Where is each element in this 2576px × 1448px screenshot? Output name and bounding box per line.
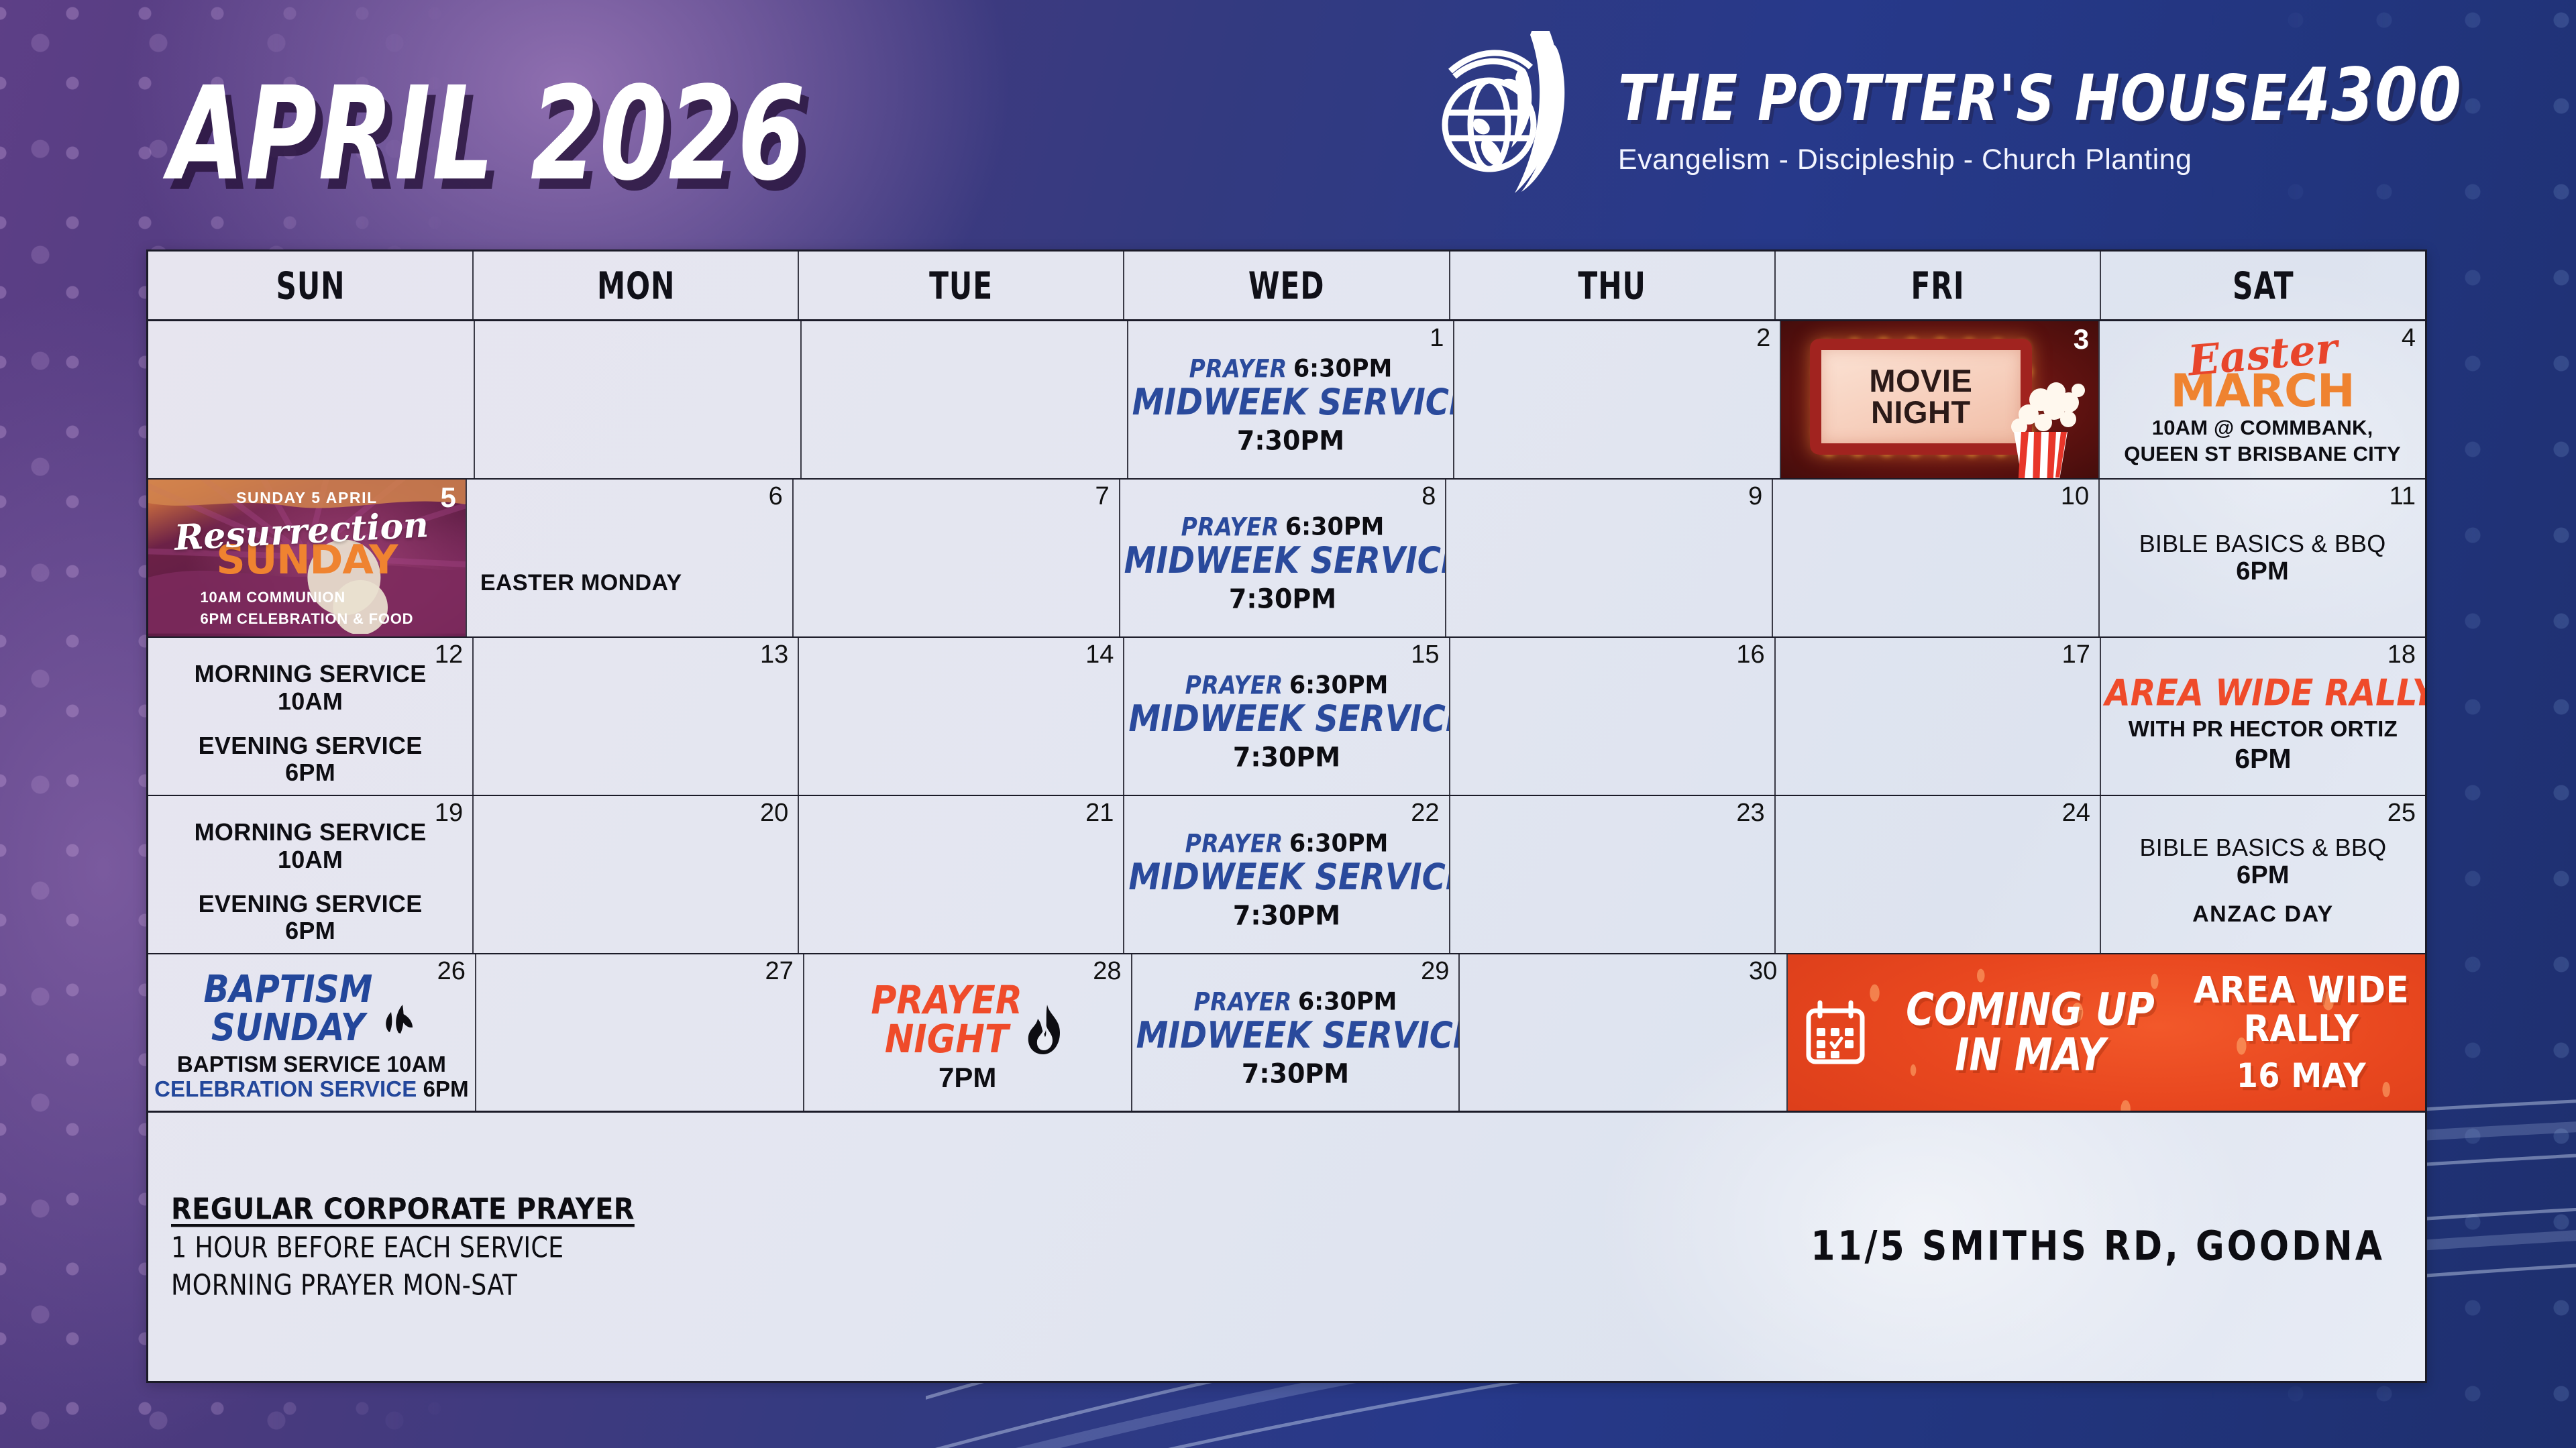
- resurrection-detail-2: 6PM CELEBRATION & FOOD: [200, 608, 413, 630]
- corporate-prayer-heading: REGULAR CORPORATE PRAYER: [171, 1192, 635, 1227]
- movie-night-card: MOVIE NIGHT: [1781, 321, 2098, 478]
- day-cell-25[interactable]: 25 BIBLE BASICS & BBQ 6PM ANZAC DAY: [2101, 796, 2425, 953]
- day-cell-18[interactable]: 18 AREA WIDE RALLY WITH PR HECTOR ORTIZ …: [2101, 638, 2425, 795]
- day-number: 20: [760, 800, 788, 826]
- coming-up-in-may-banner[interactable]: COMING UP IN MAY AREA WIDE RALLY 16 MAY: [1788, 954, 2425, 1111]
- day-number: 29: [1421, 958, 1449, 984]
- day-cell-2[interactable]: 2: [1454, 321, 1781, 478]
- easter-detail-2: QUEEN ST BRISBANE CITY: [2104, 441, 2421, 467]
- calendar-check-icon: [1804, 1000, 1867, 1066]
- brand-name-text: THE POTTER'S HOUSE: [1618, 62, 2288, 135]
- day-cell-27[interactable]: 27: [476, 954, 804, 1111]
- day-number: 22: [1411, 800, 1439, 826]
- day-number: 15: [1411, 642, 1439, 667]
- baptism-title-line-1: BAPTISM: [203, 970, 372, 1008]
- resurrection-details: 10AM COMMUNION 6PM CELEBRATION & FOOD: [200, 587, 413, 630]
- dow-label: MON: [597, 264, 675, 308]
- dow-mon: MON: [474, 252, 799, 319]
- bible-basics-time: 6PM: [2105, 861, 2421, 890]
- day-number: 21: [1085, 800, 1114, 826]
- week-row: SUNDAY 5 APRIL Resurrection SUNDAY 10AM …: [148, 480, 2425, 638]
- water-splash-icon: [378, 995, 419, 1037]
- evening-service-label: EVENING SERVICE: [152, 891, 468, 917]
- day-cell-empty[interactable]: [475, 321, 802, 478]
- coming-up-heading: COMING UP IN MAY: [1906, 987, 2155, 1078]
- prayer-line: PRAYER6:30PM: [1132, 356, 1450, 382]
- page-header: APRIL 2026: [0, 0, 2576, 248]
- easter-march-title: Easter MARCH: [2104, 333, 2421, 412]
- day-number: 6: [769, 484, 783, 509]
- prayer-night-title: PRAYER NIGHT: [871, 981, 1022, 1059]
- rally-time: 6PM: [2105, 744, 2421, 775]
- event-time: 7:30PM: [1124, 584, 1442, 614]
- easter-march-details: 10AM @ COMMBANK, QUEEN ST BRISBANE CITY: [2104, 414, 2421, 467]
- day-number: 17: [2062, 642, 2090, 667]
- dow-tue: TUE: [799, 252, 1124, 319]
- day-cell-22[interactable]: 22 PRAYER6:30PM MIDWEEK SERVICE 7:30PM: [1124, 796, 1450, 953]
- evening-service-time: 6PM: [152, 759, 468, 786]
- brand-tagline: Evangelism - Discipleship - Church Plant…: [1618, 144, 2462, 176]
- day-number: 5: [441, 484, 456, 512]
- easter-monday-label: EASTER MONDAY: [471, 570, 682, 630]
- day-cell-30[interactable]: 30: [1460, 954, 1788, 1111]
- dow-label: SAT: [2233, 264, 2294, 308]
- day-number: 9: [1748, 484, 1762, 509]
- day-number: 25: [2387, 800, 2416, 826]
- may-rally-line-2: RALLY: [2244, 1007, 2359, 1050]
- prayer-label: PRAYER: [1185, 672, 1283, 700]
- day-number: 26: [437, 958, 466, 984]
- day-cell-7[interactable]: 7: [794, 480, 1120, 636]
- resurrection-sunday-card: SUNDAY 5 APRIL Resurrection SUNDAY 10AM …: [148, 480, 466, 636]
- day-number: 3: [2074, 325, 2089, 353]
- day-number: 30: [1749, 958, 1777, 984]
- day-cell-empty[interactable]: [148, 321, 475, 478]
- dow-label: THU: [1578, 264, 1646, 308]
- dow-label: SUN: [276, 264, 345, 308]
- may-rally-line-1: AREA WIDE: [2194, 969, 2409, 1011]
- prayer-time: 6:30PM: [1298, 989, 1397, 1016]
- prayer-line: PRAYER6:30PM: [1128, 673, 1444, 699]
- week-row: 12 MORNING SERVICE 10AM EVENING SERVICE …: [148, 638, 2425, 796]
- popcorn-icon: [1988, 370, 2089, 478]
- prayer-time: 6:30PM: [1289, 830, 1389, 858]
- movie-line-1: MOVIE: [1869, 365, 1972, 396]
- prayer-night-time: 7PM: [808, 1062, 1127, 1093]
- day-cell-9[interactable]: 9: [1446, 480, 1773, 636]
- dow-fri: FRI: [1776, 252, 2101, 319]
- day-number: 27: [765, 958, 793, 984]
- day-number: 14: [1085, 642, 1114, 667]
- baptism-detail-2: CELEBRATION SERVICE 6PM: [152, 1077, 471, 1102]
- baptism-detail-1: BAPTISM SERVICE 10AM: [152, 1052, 471, 1077]
- day-cell-5[interactable]: SUNDAY 5 APRIL Resurrection SUNDAY 10AM …: [148, 480, 467, 636]
- celebration-service-label: CELEBRATION SERVICE: [154, 1076, 417, 1101]
- dow-wed: WED: [1124, 252, 1450, 319]
- resurrection-detail-1: 10AM COMMUNION: [200, 587, 413, 608]
- may-rally-info: AREA WIDE RALLY 16 MAY: [2194, 971, 2409, 1093]
- event-title: MIDWEEK SERVICE: [1136, 1015, 1455, 1056]
- morning-service-label: MORNING SERVICE: [152, 819, 468, 846]
- day-number: 16: [1736, 642, 1764, 667]
- day-cell-24[interactable]: 24: [1776, 796, 2101, 953]
- coming-up-line-1: COMING UP: [1906, 987, 2155, 1032]
- day-number: 18: [2387, 642, 2416, 667]
- dow-label: TUE: [929, 264, 993, 308]
- baptism-title-line-2: SUNDAY: [203, 1009, 372, 1047]
- prayer-line: PRAYER6:30PM: [1136, 989, 1455, 1015]
- event-time: 7:30PM: [1132, 426, 1450, 456]
- day-number: 10: [2061, 484, 2089, 509]
- corporate-prayer-line-1: 1 HOUR BEFORE EACH SERVICE: [171, 1231, 1745, 1264]
- celebration-service-time: 6PM: [423, 1076, 469, 1101]
- event-title: MIDWEEK SERVICE: [1132, 383, 1450, 424]
- day-cell-23[interactable]: 23: [1450, 796, 1776, 953]
- dow-sun: SUN: [148, 252, 474, 319]
- event-time: 7:30PM: [1136, 1059, 1455, 1089]
- day-cell-12[interactable]: 12 MORNING SERVICE 10AM EVENING SERVICE …: [148, 638, 474, 795]
- day-number: 28: [1093, 958, 1121, 984]
- prayer-label: PRAYER: [1189, 355, 1287, 383]
- event-title: MIDWEEK SERVICE: [1124, 541, 1442, 582]
- day-number: 1: [1430, 325, 1444, 351]
- week-row: 19 MORNING SERVICE 10AM EVENING SERVICE …: [148, 796, 2425, 954]
- day-cell-13[interactable]: 13: [474, 638, 799, 795]
- page-title: APRIL 2026: [169, 59, 806, 209]
- calendar-grid: SUN MON TUE WED THU FRI SAT 1 PRAYER6:30…: [146, 249, 2427, 1383]
- day-cell-15[interactable]: 15 PRAYER6:30PM MIDWEEK SERVICE 7:30PM: [1124, 638, 1450, 795]
- day-number: 8: [1421, 484, 1436, 509]
- event-time: 7:30PM: [1128, 742, 1444, 773]
- dow-label: FRI: [1911, 264, 1964, 308]
- bible-basics-time: 6PM: [2104, 557, 2421, 586]
- day-number: 4: [2402, 325, 2416, 351]
- event-time: 7:30PM: [1128, 901, 1444, 931]
- day-cell-16[interactable]: 16: [1450, 638, 1776, 795]
- day-cell-29[interactable]: 29 PRAYER6:30PM MIDWEEK SERVICE 7:30PM: [1132, 954, 1460, 1111]
- calendar-footer: REGULAR CORPORATE PRAYER 1 HOUR BEFORE E…: [148, 1113, 2425, 1381]
- rally-speaker: WITH PR HECTOR ORTIZ: [2105, 717, 2421, 742]
- morning-service-label: MORNING SERVICE: [152, 661, 468, 687]
- day-cell-1[interactable]: 1 PRAYER6:30PM MIDWEEK SERVICE 7:30PM: [1128, 321, 1455, 478]
- week-row: 1 PRAYER6:30PM MIDWEEK SERVICE 7:30PM 2: [148, 321, 2425, 480]
- flame-icon: [1025, 1004, 1064, 1055]
- prayer-night-line-2: NIGHT: [871, 1020, 1022, 1059]
- prayer-time: 6:30PM: [1289, 672, 1389, 700]
- day-number: 23: [1736, 800, 1764, 826]
- dow-thu: THU: [1450, 252, 1776, 319]
- resurrection-eyebrow: SUNDAY 5 APRIL: [236, 489, 378, 507]
- morning-service-time: 10AM: [152, 846, 468, 873]
- evening-service-time: 6PM: [152, 917, 468, 944]
- calendar-header-row: SUN MON TUE WED THU FRI SAT: [148, 252, 2425, 321]
- day-cell-20[interactable]: 20: [474, 796, 799, 953]
- church-address: 11/5 SMITHS RD, GOODNA: [1811, 1223, 2402, 1270]
- bible-basics-title: BIBLE BASICS & BBQ: [2104, 531, 2421, 557]
- easter-detail-1: 10AM @ COMMBANK,: [2104, 414, 2421, 441]
- day-number: 12: [435, 642, 463, 667]
- day-cell-11[interactable]: 11 BIBLE BASICS & BBQ 6PM: [2100, 480, 2425, 636]
- movie-night-label: MOVIE NIGHT: [1869, 365, 1972, 428]
- dow-label: WED: [1248, 264, 1324, 308]
- morning-service-time: 10AM: [152, 688, 468, 715]
- corporate-prayer-line-2: MORNING PRAYER MON-SAT: [171, 1268, 1745, 1301]
- event-title: MIDWEEK SERVICE: [1128, 700, 1444, 740]
- prayer-night-line-1: PRAYER: [871, 981, 1022, 1020]
- day-cell-19[interactable]: 19 MORNING SERVICE 10AM EVENING SERVICE …: [148, 796, 474, 953]
- day-cell-empty[interactable]: [802, 321, 1128, 478]
- brand-block: THE POTTER'S HOUSE4300 Evangelism - Disc…: [1434, 31, 2462, 195]
- day-cell-8[interactable]: 8 PRAYER6:30PM MIDWEEK SERVICE 7:30PM: [1120, 480, 1447, 636]
- day-number: 19: [435, 800, 463, 826]
- evening-service-label: EVENING SERVICE: [152, 732, 468, 759]
- may-rally-date: 16 MAY: [2194, 1058, 2409, 1094]
- day-number: 2: [1756, 325, 1770, 351]
- day-cell-28[interactable]: 28 PRAYER NIGHT 7PM: [804, 954, 1132, 1111]
- brand-number: 4300: [2288, 53, 2462, 137]
- day-number: 7: [1095, 484, 1109, 509]
- globe-flame-logo-icon: [1434, 31, 1595, 195]
- day-cell-4[interactable]: 4 Easter MARCH 10AM @ COMMBANK, QUEEN ST…: [2100, 321, 2425, 478]
- day-number: 24: [2062, 800, 2090, 826]
- day-cell-14[interactable]: 14: [799, 638, 1124, 795]
- day-cell-26[interactable]: 26 BAPTISM SUNDAY: [148, 954, 476, 1111]
- prayer-time: 6:30PM: [1293, 355, 1393, 383]
- day-cell-10[interactable]: 10: [1773, 480, 2100, 636]
- prayer-label: PRAYER: [1181, 514, 1279, 541]
- day-cell-17[interactable]: 17: [1776, 638, 2101, 795]
- prayer-time: 6:30PM: [1285, 514, 1385, 541]
- prayer-label: PRAYER: [1185, 830, 1283, 858]
- coming-up-line-2: IN MAY: [1906, 1033, 2155, 1078]
- baptism-title: BAPTISM SUNDAY: [203, 970, 372, 1046]
- bible-basics-title: BIBLE BASICS & BBQ: [2105, 834, 2421, 861]
- prayer-line: PRAYER6:30PM: [1128, 831, 1444, 857]
- movie-line-2: NIGHT: [1869, 396, 1972, 428]
- event-title: MIDWEEK SERVICE: [1128, 858, 1444, 899]
- prayer-label: PRAYER: [1194, 989, 1292, 1016]
- rally-title: AREA WIDE RALLY: [2105, 673, 2421, 714]
- brand-name: THE POTTER'S HOUSE4300: [1618, 59, 2462, 132]
- day-cell-3[interactable]: MOVIE NIGHT: [1781, 321, 2100, 478]
- dow-sat: SAT: [2101, 252, 2425, 319]
- week-row: 26 BAPTISM SUNDAY: [148, 954, 2425, 1113]
- prayer-line: PRAYER6:30PM: [1124, 514, 1442, 541]
- anzac-day-label: ANZAC DAY: [2105, 901, 2421, 927]
- day-cell-6[interactable]: 6 EASTER MONDAY: [467, 480, 794, 636]
- day-cell-21[interactable]: 21: [799, 796, 1124, 953]
- day-number: 11: [2390, 484, 2416, 509]
- day-number: 13: [760, 642, 788, 667]
